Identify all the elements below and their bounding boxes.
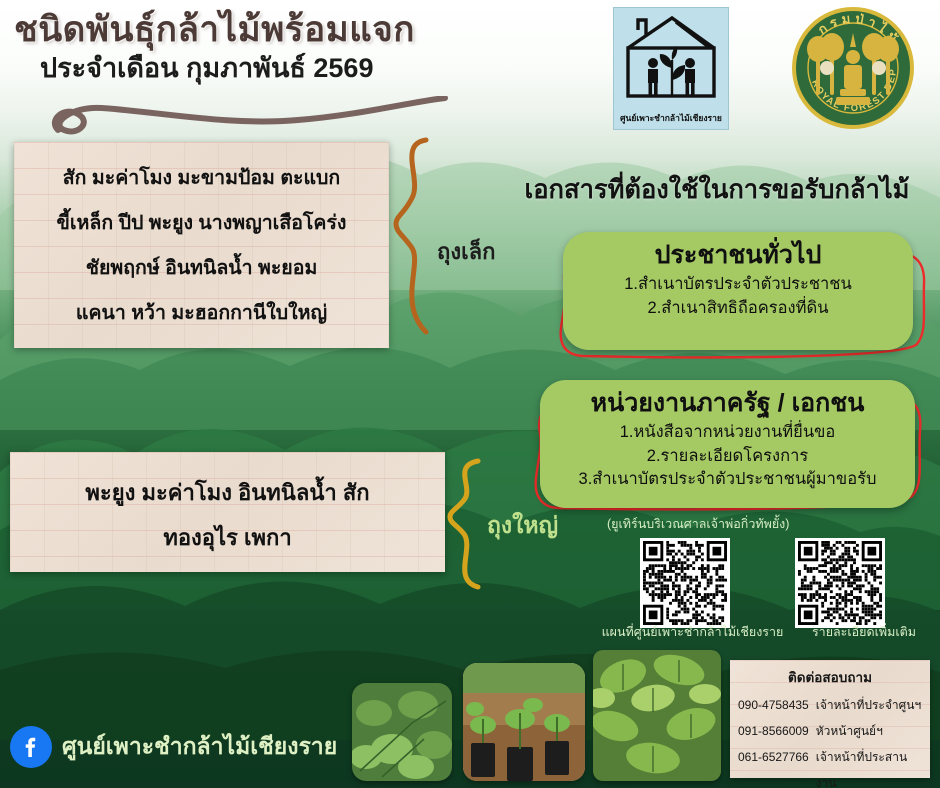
- species-card-big-bag: พะยูง มะค่าโมง อินทนิลน้ำ สัก ทองอุไร เพ…: [10, 452, 445, 572]
- contact-number[interactable]: 061-6527766: [738, 744, 809, 788]
- contact-row: 061-6527766 เจ้าหน้าที่ประสานงาน: [738, 744, 922, 788]
- species-line: ทองอุไร เพกา: [16, 515, 439, 560]
- documents-heading: เอกสารที่ต้องใช้ในการขอรับกล้าไม้: [497, 170, 937, 210]
- facebook-footer[interactable]: ศูนย์เพาะชำกล้าไม้เชียงราย: [10, 726, 337, 768]
- brace-big-bag-icon: [446, 458, 490, 590]
- contact-title: ติดต่อสอบถาม: [738, 666, 922, 688]
- card-item: 2.รายละเอียดโครงการ: [554, 445, 901, 468]
- contact-number[interactable]: 091-8566009: [738, 718, 809, 744]
- nursery-logo-caption: ศูนย์เพาะชำกล้าไม้เชียงราย: [614, 111, 728, 125]
- document-card-organizations: หน่วยงานภาครัฐ / เอกชน 1.หนังสือจากหน่วย…: [540, 380, 915, 508]
- facebook-icon[interactable]: [10, 726, 52, 768]
- card-item: 1.สำเนาบัตรประจำตัวประชาชน: [577, 273, 899, 296]
- poster-root: ชนิดพันธุ์กล้าไม้พร้อมแจก ประจำเดือน กุม…: [0, 0, 940, 788]
- seedling-leaves-photo: [352, 683, 452, 781]
- card-item: 1.หนังสือจากหน่วยงานที่ยื่นขอ: [554, 421, 901, 444]
- seedling-bags-photo: [463, 663, 585, 781]
- uturn-note: (ยูเทิร์นบริเวณศาลเจ้าพ่อกิ่วทัพยั้ง): [607, 514, 789, 534]
- page-subtitle: ประจำเดือน กุมภาพันธ์ 2569: [14, 53, 484, 84]
- details-qr-caption: รายละเอียดเพิ่มเติม: [790, 622, 938, 642]
- species-line: พะยูง มะค่าโมง อินทนิลน้ำ สัก: [16, 470, 439, 515]
- facebook-page-label: ศูนย์เพาะชำกล้าไม้เชียงราย: [62, 729, 337, 765]
- contact-row: 091-8566009 หัวหน้าศูนย์ฯ: [738, 718, 922, 744]
- contact-role: หัวหน้าศูนย์ฯ: [816, 718, 883, 744]
- details-qr-code[interactable]: [795, 538, 885, 628]
- species-card-small-bag: สัก มะค่าโมง มะขามป้อม ตะแบก ขี้เหล็ก ปี…: [14, 142, 389, 348]
- brace-small-bag-icon: [392, 136, 438, 336]
- contact-row: 090-4758435 เจ้าหน้าที่ประจำศูนฯ: [738, 692, 922, 718]
- card-title: ประชาชนทั่วไป: [577, 240, 899, 271]
- contact-card: ติดต่อสอบถาม 090-4758435 เจ้าหน้าที่ประจ…: [730, 660, 930, 778]
- decorative-swirl-icon: [30, 96, 450, 144]
- contact-number[interactable]: 090-4758435: [738, 692, 809, 718]
- card-item: 3.สำเนาบัตรประจำตัวประชาชนผู้มาขอรับ: [554, 468, 901, 491]
- card-title: หน่วยงานภาครัฐ / เอกชน: [554, 388, 901, 419]
- nursery-house-icon: [614, 8, 730, 113]
- nursery-logo: ศูนย์เพาะชำกล้าไม้เชียงราย: [613, 7, 729, 130]
- poster-header: ชนิดพันธุ์กล้าไม้พร้อมแจก ประจำเดือน กุม…: [14, 10, 484, 84]
- brace-label-big-bag: ถุงใหญ่: [487, 508, 558, 544]
- species-line: ขี้เหล็ก ปีป พะยูง นางพญาเสือโคร่ง: [20, 201, 383, 246]
- document-card-general-public: ประชาชนทั่วไป 1.สำเนาบัตรประจำตัวประชาชน…: [563, 232, 913, 350]
- map-qr-code[interactable]: [640, 538, 730, 628]
- map-qr-caption: แผนที่ศูนย์เพาะชำกล้าไม้เชียงราย: [595, 622, 790, 642]
- species-line: แคนา หว้า มะฮอกกานีใบใหญ่: [20, 291, 383, 336]
- royal-forest-department-seal: กรมป่าไม้ ROYAL FOREST DEPARTMENT: [790, 5, 916, 131]
- contact-role: เจ้าหน้าที่ประจำศูนฯ: [816, 692, 921, 718]
- page-title: ชนิดพันธุ์กล้าไม้พร้อมแจก: [14, 10, 484, 49]
- brace-label-small-bag: ถุงเล็ก: [437, 234, 495, 269]
- card-item: 2.สำเนาสิทธิถือครองที่ดิน: [577, 297, 899, 320]
- contact-role: เจ้าหน้าที่ประสานงาน: [816, 744, 922, 788]
- nursery-foliage-photo: [593, 650, 721, 781]
- species-line: สัก มะค่าโมง มะขามป้อม ตะแบก: [20, 156, 383, 201]
- species-line: ชัยพฤกษ์ อินทนิลน้ำ พะยอม: [20, 246, 383, 291]
